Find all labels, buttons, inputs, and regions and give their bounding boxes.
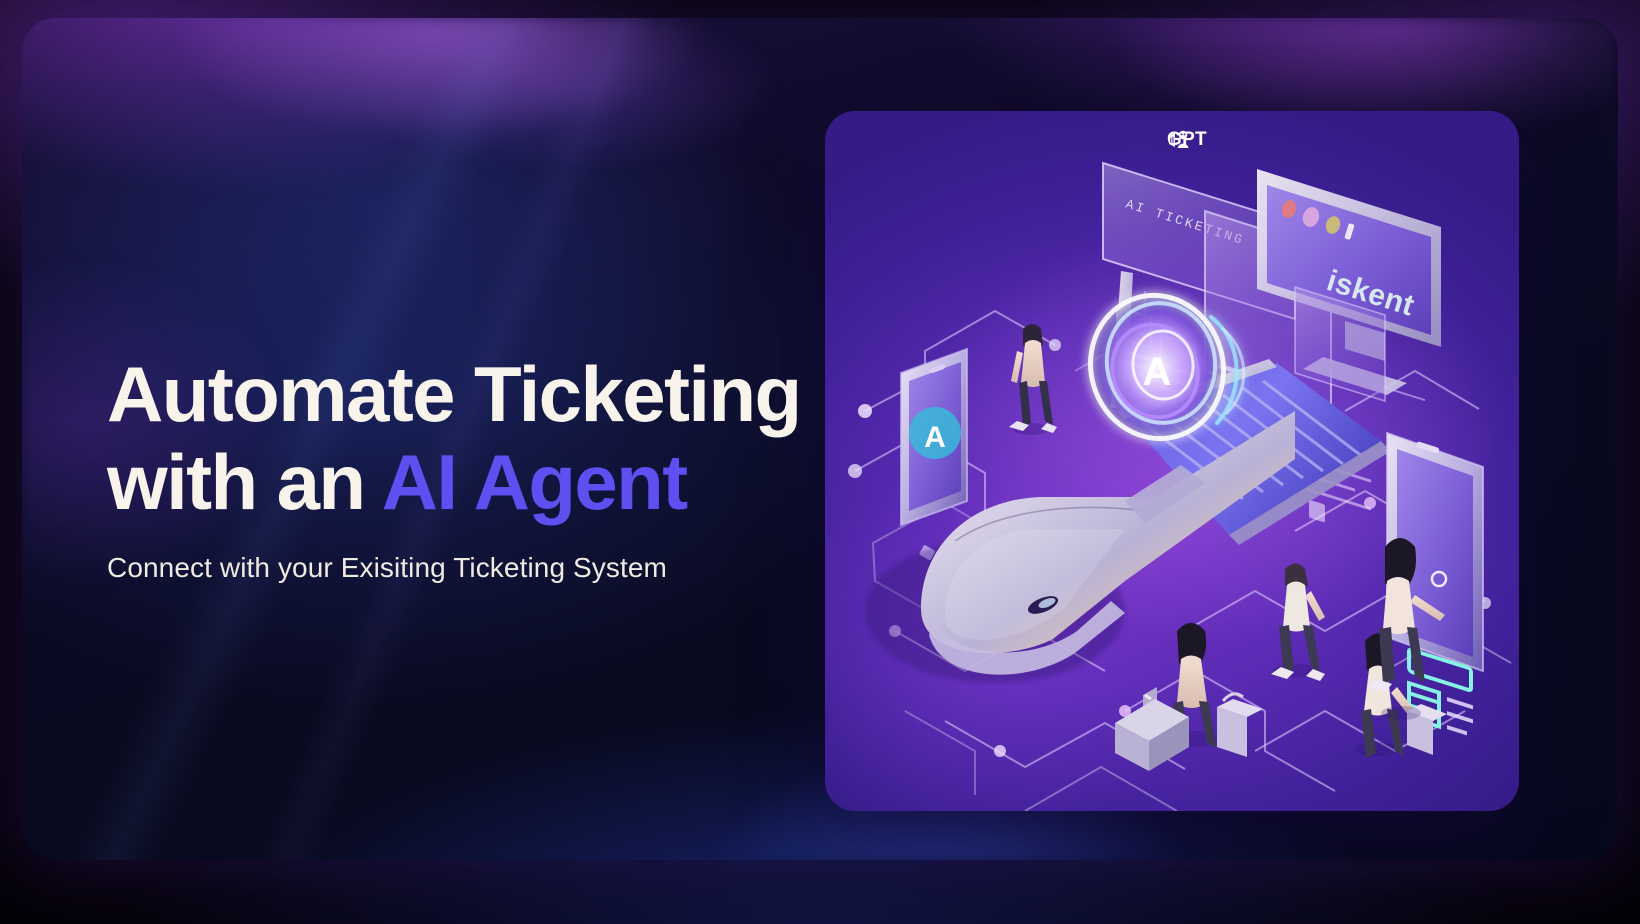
traveler-walking xyxy=(1009,324,1057,435)
phone-logo-label: A xyxy=(924,421,946,454)
gpt-badge: GPT xyxy=(1167,129,1207,151)
traveler-with-bag xyxy=(1271,564,1325,682)
illustration-scene: AI TICKETING xyxy=(825,111,1519,811)
hero-card: Automate Ticketing with an AI Agent Conn… xyxy=(22,18,1618,860)
page-stage: Automate Ticketing with an AI Agent Conn… xyxy=(0,0,1640,924)
portal-logo-label: A xyxy=(1143,350,1172,394)
headline-accent: AI Agent xyxy=(382,438,687,526)
traveler-with-suitcase xyxy=(1115,623,1263,771)
hero-subtitle: Connect with your Exisiting Ticketing Sy… xyxy=(107,550,807,586)
gpt-robot-icon xyxy=(1167,129,1193,151)
page-title: Automate Ticketing with an AI Agent xyxy=(107,350,807,526)
mobile-phone: A xyxy=(901,349,967,525)
illustration-panel: GPT xyxy=(825,111,1519,811)
headline-line-1: Automate Ticketing xyxy=(107,350,801,438)
headline-line-2-prefix: with an xyxy=(107,438,382,526)
hero-copy: Automate Ticketing with an AI Agent Conn… xyxy=(107,350,807,586)
